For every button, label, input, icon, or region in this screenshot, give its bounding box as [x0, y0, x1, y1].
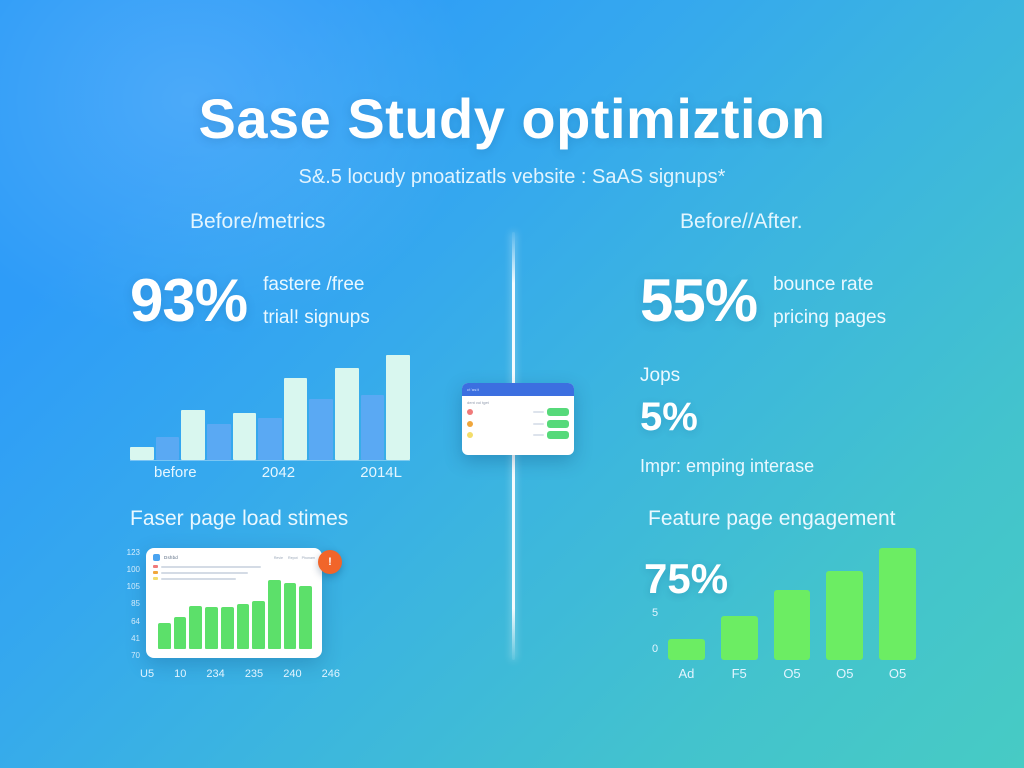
- dashboard-nav[interactable]: RevieRepot: [274, 556, 298, 560]
- dashboard-bar: [284, 583, 297, 649]
- bottom-left-y-tick: 41: [118, 634, 140, 643]
- dashboard-card: Dshbd RevieRepot Phonam: [146, 548, 322, 658]
- bottom-left-y-tick: 105: [118, 582, 140, 591]
- dashboard-bar: [158, 623, 171, 649]
- dashboard-logo-icon: [153, 554, 160, 561]
- left-trend-bars: [130, 355, 410, 460]
- bottom-right-bar-chart: [668, 543, 916, 660]
- right-secondary-value: 5%: [640, 395, 1020, 440]
- right-secondary-caption: Impr: emping interase: [640, 456, 1020, 477]
- center-card-row-meta: [533, 411, 544, 413]
- dashboard-list-row[interactable]: [153, 571, 315, 574]
- bottom-right-y-tick: 5: [652, 607, 658, 619]
- bottom-right-bar: [774, 590, 811, 660]
- center-card-header-text: ct'asit: [467, 387, 479, 392]
- left-trend-axis-line: [130, 460, 410, 461]
- left-trend-bar: [207, 424, 231, 460]
- dashboard-topbar: Dshbd RevieRepot Phonam: [146, 548, 322, 561]
- right-stat-block: 55% bounce rate pricing pages: [640, 268, 1020, 335]
- dashboard-row-text: [161, 572, 248, 574]
- left-trend-bar: [156, 437, 180, 460]
- center-card-row-status-icon: [467, 409, 473, 415]
- left-column-heading: Before/metrics: [190, 210, 510, 234]
- bottom-left-y-tick: 64: [118, 617, 140, 626]
- bottom-left-y-axis-labels: 12310010585644170: [118, 548, 140, 660]
- bottom-right-x-tick: Ad: [668, 666, 705, 681]
- left-trend-tick-labels: before20422014L: [130, 464, 420, 481]
- left-trend-bar: [258, 418, 282, 460]
- bottom-left-y-tick: 100: [118, 565, 140, 574]
- bottom-right-bar: [826, 571, 863, 660]
- left-stat-caption-line1: fastere /free: [263, 268, 370, 301]
- center-card-row[interactable]: [467, 420, 569, 428]
- center-card-row[interactable]: [467, 431, 569, 439]
- dashboard-bar: [221, 607, 234, 649]
- dashboard-row-text: [161, 566, 261, 568]
- bottom-right-bar: [721, 616, 758, 660]
- notification-badge-icon[interactable]: !: [318, 550, 342, 574]
- bottom-left-x-tick: 10: [174, 668, 186, 680]
- dashboard-bar: [174, 617, 187, 649]
- center-card-row[interactable]: [467, 408, 569, 416]
- page-title: Sase Study optimiztion: [0, 86, 1024, 151]
- left-column: Before/metrics 93% fastere /free trial! …: [130, 210, 510, 335]
- right-stat-caption-line2: pricing pages: [773, 301, 886, 334]
- bottom-right-x-tick: O5: [879, 666, 916, 681]
- left-trend-bar: [130, 447, 154, 460]
- bottom-left-x-tick: 240: [283, 668, 301, 680]
- bottom-left-x-tick: 246: [322, 668, 340, 680]
- dashboard-bar: [189, 606, 202, 649]
- right-secondary-label: Jops: [640, 365, 1020, 387]
- page-subtitle: S&.5 locudy pnoatizatls vebsite : SaAS s…: [0, 166, 1024, 189]
- left-stat-block: 93% fastere /free trial! signups: [130, 268, 510, 335]
- bottom-left-y-tick: 85: [118, 599, 140, 608]
- dashboard-nav-item[interactable]: Repot: [288, 556, 298, 560]
- dashboard-bar: [268, 580, 281, 649]
- center-card-row-status-icon: [467, 421, 473, 427]
- bottom-left-x-tick: U5: [140, 668, 154, 680]
- left-trend-bar-chart: [130, 355, 410, 460]
- bottom-left-x-tick: 235: [245, 668, 263, 680]
- left-trend-tick-label: before: [154, 464, 197, 481]
- left-trend-tick-label: 2042: [262, 464, 295, 481]
- left-trend-tick-label: 2014L: [360, 464, 402, 481]
- left-trend-bar: [361, 395, 385, 460]
- right-secondary-stat-block: Jops 5% Impr: emping interase: [640, 365, 1020, 477]
- center-card-row-meta: [533, 423, 544, 425]
- bottom-right-y-tick: 0: [652, 643, 658, 655]
- bottom-right-x-tick: F5: [721, 666, 758, 681]
- dashboard-brand-label: Dshbd: [164, 555, 178, 560]
- bottom-right-section-title: Feature page engagement: [648, 507, 896, 531]
- dashboard-search-label[interactable]: Phonam: [302, 556, 315, 560]
- bottom-right-y-axis-labels: 50: [652, 607, 658, 655]
- bottom-right-x-tick: O5: [826, 666, 863, 681]
- dashboard-list-row[interactable]: [153, 565, 315, 568]
- center-card-body: dent vol tget: [462, 396, 574, 439]
- left-stat-caption-line2: trial! signups: [263, 301, 370, 334]
- bottom-right-bar: [879, 548, 916, 660]
- dashboard-bar: [252, 601, 265, 649]
- left-stat-value: 93%: [130, 271, 247, 331]
- right-stat-value: 55%: [640, 271, 757, 331]
- center-card-subtitle: dent vol tget: [467, 400, 569, 405]
- bottom-left-y-tick: 70: [118, 651, 140, 660]
- dashboard-row-status-icon: [153, 565, 158, 568]
- center-card-header: ct'asit: [462, 383, 574, 396]
- center-card-row-status-icon: [467, 432, 473, 438]
- left-trend-bar: [233, 413, 257, 460]
- left-trend-bar: [386, 355, 410, 460]
- left-trend-bar: [181, 410, 205, 460]
- left-trend-bar: [309, 399, 333, 460]
- center-card-row-action-button[interactable]: [547, 408, 569, 416]
- left-trend-bar: [284, 378, 308, 460]
- center-card-row-list: [467, 408, 569, 439]
- right-stat-caption-line1: bounce rate: [773, 268, 886, 301]
- bottom-right-x-tick: O5: [774, 666, 811, 681]
- dashboard-bar: [299, 586, 312, 649]
- bottom-right-bar: [668, 639, 705, 660]
- bottom-left-dashboard-widget: Dshbd RevieRepot Phonam !: [146, 548, 336, 666]
- dashboard-row-status-icon: [153, 571, 158, 574]
- center-card-row-action-button[interactable]: [547, 420, 569, 428]
- dashboard-bar-chart: [158, 577, 312, 649]
- dashboard-nav-item[interactable]: Revie: [274, 556, 283, 560]
- left-trend-bar: [335, 368, 359, 460]
- infographic-poster: Sase Study optimiztion S&.5 locudy pnoat…: [0, 0, 1024, 768]
- right-column: Before//After. 55% bounce rate pricing p…: [640, 210, 1020, 477]
- center-mock-card: ct'asit dent vol tget: [462, 383, 574, 455]
- right-column-heading: Before//After.: [680, 210, 1020, 234]
- dashboard-bar: [237, 604, 250, 649]
- bottom-left-y-tick: 123: [118, 548, 140, 557]
- bottom-left-section-title: Faser page load stimes: [130, 507, 348, 531]
- bottom-left-x-tick: 234: [206, 668, 224, 680]
- center-card-row-meta: [533, 434, 544, 436]
- center-card-row-action-button[interactable]: [547, 431, 569, 439]
- bottom-right-x-axis-labels: AdF5O5O5O5: [668, 666, 916, 681]
- right-stat-caption: bounce rate pricing pages: [773, 268, 886, 335]
- dashboard-bar: [205, 607, 218, 649]
- bottom-left-x-axis-labels: U510234235240246: [140, 668, 340, 680]
- left-stat-caption: fastere /free trial! signups: [263, 268, 370, 335]
